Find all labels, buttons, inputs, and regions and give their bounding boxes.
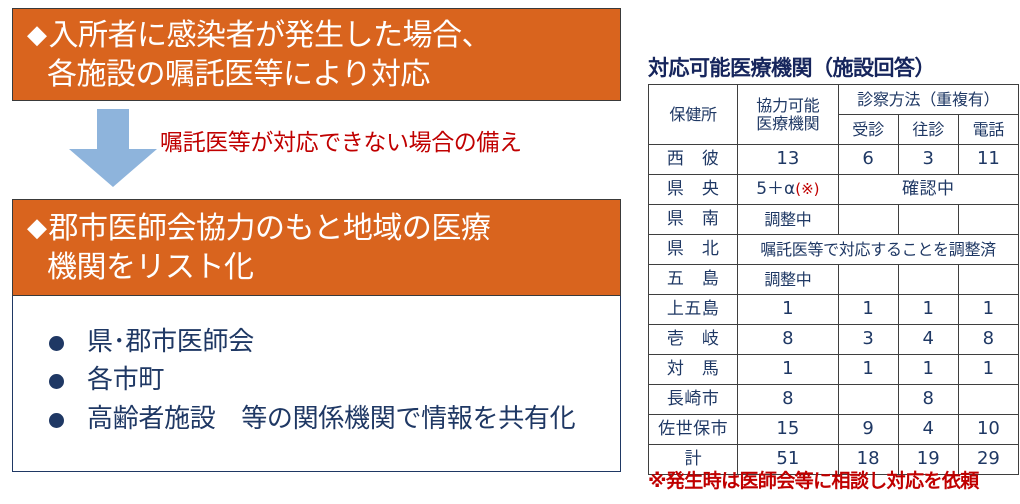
col-header-kyoryoku: 協力可能 医療機関 — [738, 85, 838, 145]
headline-secondary-line-2: 機関をリスト化 — [47, 250, 254, 285]
cell-kyoryoku: 15 — [738, 415, 838, 445]
right-table-column: 対応可能医療機関（施設回答） 保健所 協力可能 医療機関 診察方法（重複有） 受… — [640, 0, 1020, 504]
cell-oshin: 8 — [898, 385, 958, 415]
table-row: 県 央5＋α(※)確認中 — [649, 175, 1019, 205]
col-header-jushin: 受診 — [838, 115, 898, 145]
row-label: 県 南 — [649, 205, 738, 235]
table-footnote: ※発生時は医師会等に相談し対応を依頼 — [648, 466, 979, 493]
list-item: 高齢者施設 等の関係機関で情報を共有化 — [49, 400, 620, 438]
table-row: 壱 岐8348 — [649, 325, 1019, 355]
col-header-oshin: 往診 — [898, 115, 958, 145]
cell-jushin — [838, 205, 898, 235]
cell-denwa: 10 — [958, 415, 1018, 445]
cell-jushin: 3 — [838, 325, 898, 355]
table-row: 長崎市88 — [649, 385, 1019, 415]
table-row: 佐世保市159410 — [649, 415, 1019, 445]
row-label: 壱 岐 — [649, 325, 738, 355]
list-item: 県･郡市医師会 — [49, 323, 620, 361]
left-content-column: ◆入所者に感染者が発生した場合、各施設の嘱託医等により対応 嘱託医等が対応できな… — [0, 0, 632, 504]
cell-denwa: 11 — [958, 145, 1018, 175]
table-title: 対応可能医療機関（施設回答） — [648, 52, 935, 82]
headline-box-primary: ◆入所者に感染者が発生した場合、各施設の嘱託医等により対応 — [12, 8, 621, 101]
table-row: 対 馬1111 — [649, 355, 1019, 385]
cell-denwa: 8 — [958, 325, 1018, 355]
cell-jushin — [838, 265, 898, 295]
headline-secondary-line-1: 郡市医師会協力のもと地域の医療 — [49, 211, 491, 246]
cell-kyoryoku: 1 — [738, 295, 838, 325]
row-label: 佐世保市 — [649, 415, 738, 445]
row-label: 五 島 — [649, 265, 738, 295]
cell-kyoryoku: 1 — [738, 355, 838, 385]
col-header-kyoryoku-line-1: 協力可能 — [756, 96, 819, 115]
bullet-dot-icon — [49, 374, 64, 389]
cell-kyoryoku: 5＋α(※) — [738, 175, 838, 205]
col-header-shinsatsu-group: 診察方法（重複有） — [838, 85, 1019, 115]
list-item-label: 各市町 — [87, 365, 164, 395]
bullet-dot-icon — [49, 413, 64, 428]
transition-caption: 嘱託医等が対応できない場合の備え — [160, 123, 522, 157]
table-row: 県 南調整中 — [649, 205, 1019, 235]
cell-oshin: 3 — [898, 145, 958, 175]
cell-jushin: 1 — [838, 355, 898, 385]
row-label: 上五島 — [649, 295, 738, 325]
bullet-dot-icon — [49, 336, 64, 351]
cell-oshin — [898, 205, 958, 235]
row-note-span: 確認中 — [838, 175, 1019, 205]
cell-denwa: 1 — [958, 295, 1018, 325]
row-label: 長崎市 — [649, 385, 738, 415]
cell-denwa — [958, 385, 1018, 415]
table-body: 西 彼136311県 央5＋α(※)確認中県 南調整中県 北嘱託医等で対応するこ… — [649, 145, 1019, 475]
list-item: 各市町 — [49, 361, 620, 399]
table-header: 保健所 協力可能 医療機関 診察方法（重複有） 受診 往診 電話 — [649, 85, 1019, 145]
cell-kyoryoku: 調整中 — [738, 205, 838, 235]
headline-primary-line-2: 各施設の嘱託医等により対応 — [47, 57, 430, 92]
related-organizations-card: 県･郡市医師会 各市町 高齢者施設 等の関係機関で情報を共有化 — [12, 296, 621, 472]
cell-oshin: 1 — [898, 355, 958, 385]
col-header-hokensho: 保健所 — [649, 85, 738, 145]
cell-oshin: 4 — [898, 415, 958, 445]
cell-oshin — [898, 265, 958, 295]
transition-band: 嘱託医等が対応できない場合の備え — [12, 101, 621, 199]
headline-box-secondary: ◆郡市医師会協力のもと地域の医療機関をリスト化 — [12, 199, 621, 296]
cell-oshin: 4 — [898, 325, 958, 355]
diamond-bullet-icon-2: ◆ — [27, 213, 47, 243]
col-header-denwa: 電話 — [958, 115, 1018, 145]
headline-primary-line-1: 入所者に感染者が発生した場合、 — [49, 18, 492, 53]
down-arrow-icon — [69, 109, 157, 187]
cell-oshin: 1 — [898, 295, 958, 325]
headline-secondary-text: ◆郡市医師会協力のもと地域の医療機関をリスト化 — [13, 209, 500, 287]
cell-kyoryoku: 調整中 — [738, 265, 838, 295]
row-label: 対 馬 — [649, 355, 738, 385]
list-item-label: 県･郡市医師会 — [87, 327, 254, 357]
cell-denwa: 1 — [958, 355, 1018, 385]
table-header-row-1: 保健所 協力可能 医療機関 診察方法（重複有） — [649, 85, 1019, 115]
diamond-bullet-icon: ◆ — [27, 20, 47, 50]
cell-jushin: 1 — [838, 295, 898, 325]
cell-kyoryoku: 8 — [738, 385, 838, 415]
row-label: 県 北 — [649, 235, 738, 265]
related-organizations-list: 県･郡市医師会 各市町 高齢者施設 等の関係機関で情報を共有化 — [13, 296, 620, 438]
cell-jushin: 9 — [838, 415, 898, 445]
col-header-kyoryoku-line-2: 医療機関 — [756, 114, 819, 133]
list-item-label: 高齢者施設 等の関係機関で情報を共有化 — [87, 404, 575, 434]
cell-kyoryoku: 13 — [738, 145, 838, 175]
cell-denwa — [958, 265, 1018, 295]
cell-kyoryoku: 8 — [738, 325, 838, 355]
table-row: 県 北嘱託医等で対応することを調整済 — [649, 235, 1019, 265]
footnote-marker: (※) — [795, 180, 819, 198]
cell-jushin — [838, 385, 898, 415]
headline-primary-text: ◆入所者に感染者が発生した場合、各施設の嘱託医等により対応 — [13, 16, 501, 94]
cell-denwa — [958, 205, 1018, 235]
row-note-span: 嘱託医等で対応することを調整済 — [738, 235, 1019, 265]
row-label: 県 央 — [649, 175, 738, 205]
medical-institutions-table: 保健所 協力可能 医療機関 診察方法（重複有） 受診 往診 電話 西 彼1363… — [648, 84, 1019, 475]
table-row: 西 彼136311 — [649, 145, 1019, 175]
row-label: 西 彼 — [649, 145, 738, 175]
table-row: 上五島1111 — [649, 295, 1019, 325]
cell-jushin: 6 — [838, 145, 898, 175]
table-row: 五 島調整中 — [649, 265, 1019, 295]
